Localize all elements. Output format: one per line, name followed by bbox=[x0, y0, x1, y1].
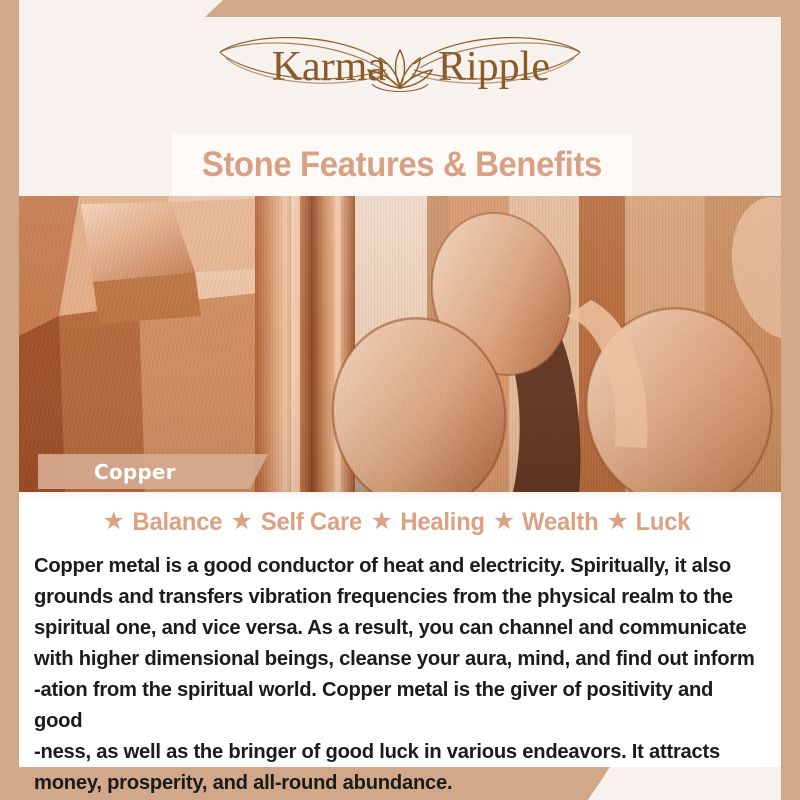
brand-logo-artwork: Karma Ripple bbox=[190, 24, 610, 116]
brand-logo: Karma Ripple bbox=[0, 24, 800, 116]
star-icon: ★ bbox=[493, 509, 515, 534]
description-line: spiritual one, and vice versa. As a resu… bbox=[34, 612, 758, 643]
frame-banner-top bbox=[205, 0, 800, 17]
benefit-label: Wealth bbox=[522, 508, 604, 537]
description-line: -ness, as well as the bringer of good lu… bbox=[34, 736, 758, 767]
benefit-item-wealth: ★ Wealth bbox=[493, 508, 607, 537]
copper-rods-photo bbox=[19, 196, 781, 492]
star-icon: ★ bbox=[607, 509, 629, 534]
description-line: -ation from the spiritual world. Copper … bbox=[34, 674, 758, 736]
benefit-label: Luck bbox=[636, 508, 696, 537]
benefit-item-healing: ★ Healing bbox=[370, 508, 492, 537]
benefit-label: Self Care bbox=[261, 508, 368, 537]
star-icon: ★ bbox=[370, 509, 392, 534]
brand-name-right: Ripple bbox=[438, 44, 550, 90]
star-icon: ★ bbox=[103, 509, 125, 534]
hero-image: Copper bbox=[19, 196, 781, 492]
benefit-item-self-care: ★ Self Care bbox=[230, 508, 370, 537]
star-icon: ★ bbox=[230, 509, 252, 534]
benefit-item-balance: ★ Balance bbox=[103, 508, 231, 537]
page-title: Stone Features & Benefits bbox=[202, 145, 602, 185]
description-line: money, prosperity, and all-round abundan… bbox=[34, 767, 758, 798]
frame-rail-right bbox=[781, 0, 800, 800]
benefit-item-luck: ★ Luck bbox=[607, 508, 698, 537]
description-line: with higher dimensional beings, cleanse … bbox=[34, 643, 758, 674]
benefits-list: ★ Balance ★ Self Care ★ Healing ★ Wealth… bbox=[19, 508, 781, 537]
benefit-label: Healing bbox=[400, 508, 490, 537]
frame-rail-left bbox=[0, 0, 19, 800]
description-line: Copper metal is a good conductor of heat… bbox=[34, 550, 758, 581]
benefit-label: Balance bbox=[132, 508, 227, 537]
content-panel: ★ Balance ★ Self Care ★ Healing ★ Wealth… bbox=[19, 492, 781, 767]
description-line: grounds and transfers vibration frequenc… bbox=[34, 581, 758, 612]
infographic-page: Karma Ripple Stone Features & Benefits bbox=[0, 0, 800, 800]
page-title-band: Stone Features & Benefits bbox=[172, 134, 632, 196]
hero-nameplate: Copper bbox=[38, 454, 268, 489]
description-text: Copper metal is a good conductor of heat… bbox=[34, 550, 769, 798]
hero-nameplate-label: Copper bbox=[38, 460, 176, 484]
panel-top-fade bbox=[19, 492, 781, 502]
brand-name-left: Karma bbox=[272, 44, 387, 90]
